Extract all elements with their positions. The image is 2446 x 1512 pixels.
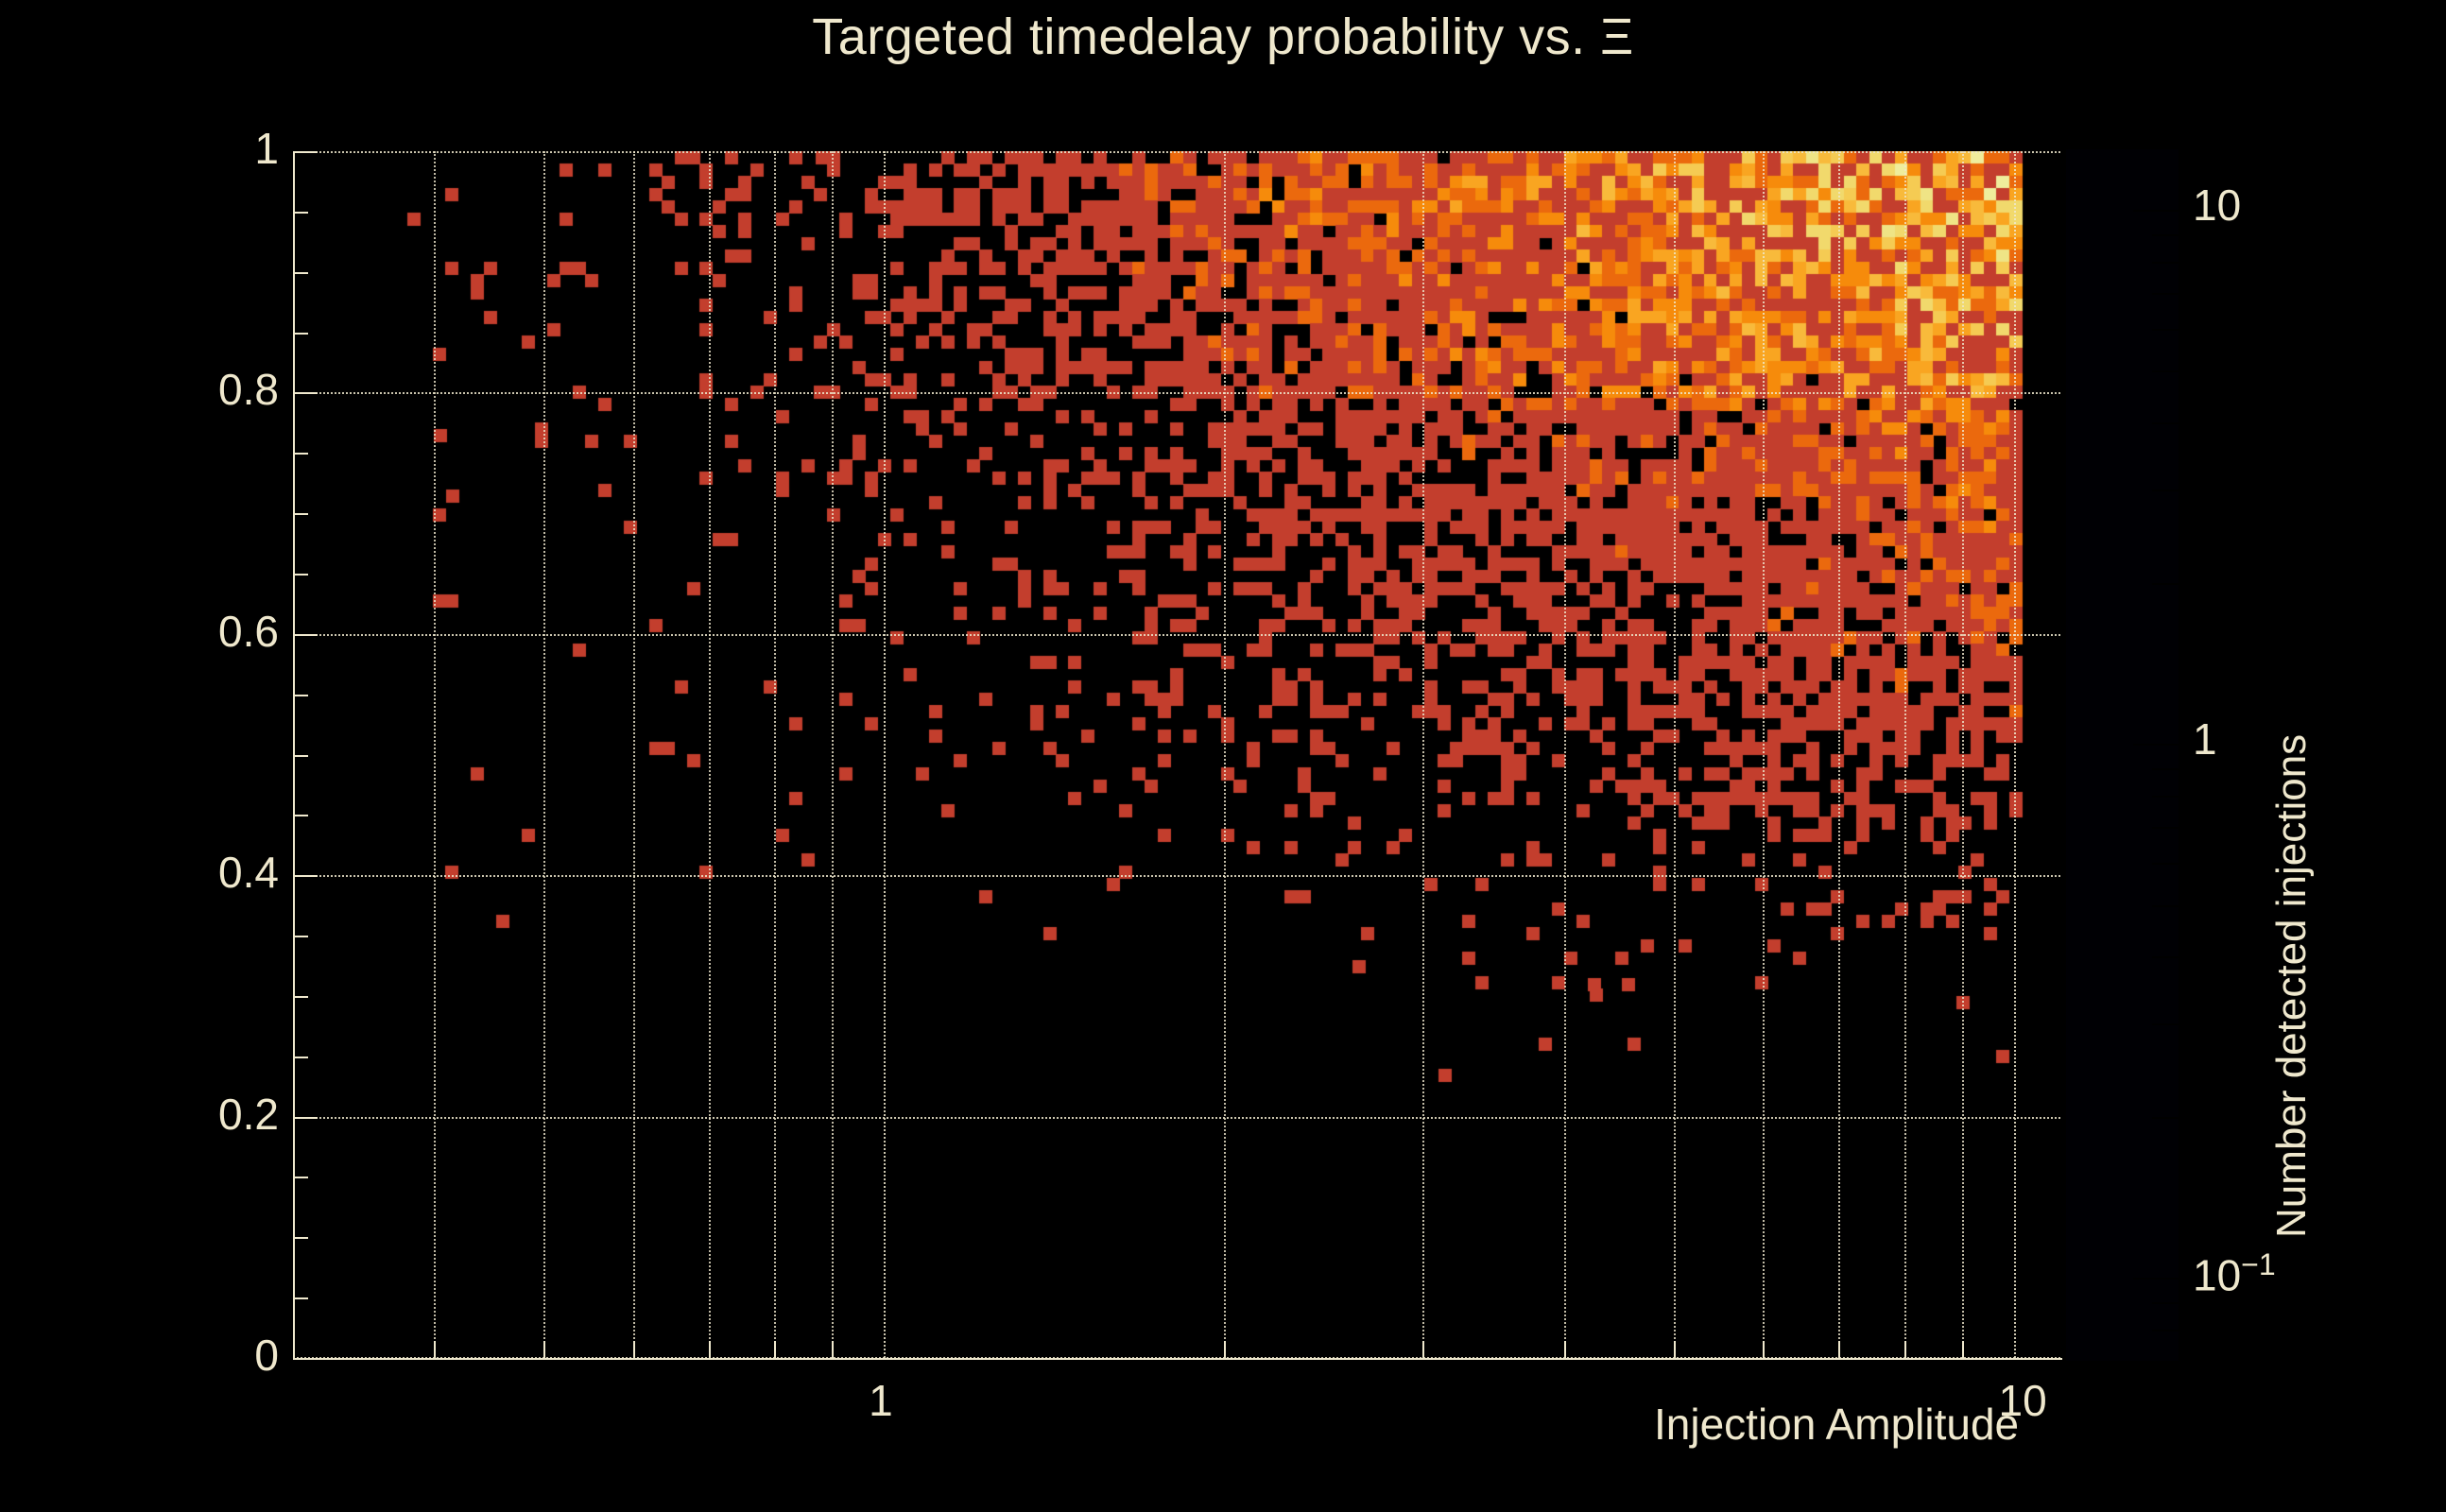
colorbar-gradient	[2066, 149, 2179, 1361]
colorbar-tick-label: 10	[2193, 180, 2241, 231]
x-minor-gridline	[1674, 151, 1676, 1358]
y-minor-tick	[293, 815, 308, 816]
y-major-tick	[293, 1117, 318, 1119]
y-minor-tick	[293, 1237, 308, 1239]
colorbar-tick	[2152, 863, 2179, 865]
colorbar-tick	[2133, 1278, 2179, 1280]
x-minor-gridline	[774, 151, 776, 1358]
x-minor-tick	[1763, 1341, 1765, 1358]
y-minor-tick	[293, 1297, 308, 1299]
x-minor-tick	[1962, 1341, 1964, 1358]
x-minor-tick	[832, 1341, 834, 1358]
x-minor-tick	[1674, 1341, 1676, 1358]
y-gridline	[293, 875, 2060, 877]
x-minor-tick	[709, 1341, 711, 1358]
y-minor-tick	[293, 875, 308, 877]
colorbar-tick	[2152, 262, 2179, 264]
colorbar-tick	[2133, 744, 2179, 746]
colorbar-tick-label: 10−1	[2193, 1247, 2276, 1300]
y-gridline	[293, 634, 2060, 636]
y-minor-tick	[293, 513, 308, 515]
y-minor-tick	[293, 574, 308, 576]
y-gridline	[293, 392, 2060, 394]
colorbar-tick	[2152, 234, 2179, 236]
x-minor-gridline	[1904, 151, 1906, 1358]
colorbar-tick-label: 1	[2193, 713, 2217, 765]
y-tick-label: 0.4	[146, 847, 279, 898]
colorbar-tick	[2152, 583, 2179, 585]
x-minor-gridline	[434, 151, 436, 1358]
chart-root: Targeted timedelay probability vs. Ξ 00.…	[0, 0, 2446, 1512]
y-minor-tick	[293, 936, 308, 937]
x-minor-tick	[1838, 1341, 1840, 1358]
y-major-tick	[293, 392, 318, 394]
x-minor-tick	[633, 1341, 635, 1358]
colorbar-tick	[2152, 1302, 2179, 1304]
x-minor-tick	[1564, 1341, 1566, 1358]
colorbar-tick	[2152, 370, 2179, 372]
colorbar-tick	[2152, 1117, 2179, 1119]
plot-area	[293, 151, 2060, 1358]
chart-title: Targeted timedelay probability vs. Ξ	[0, 8, 2446, 66]
y-gridline	[293, 1117, 2060, 1119]
x-minor-gridline	[1838, 151, 1840, 1358]
colorbar-tick	[2152, 293, 2179, 295]
x-gridline	[2014, 151, 2016, 1358]
y-tick-label: 0.6	[146, 606, 279, 657]
y-minor-tick	[293, 212, 308, 214]
y-minor-tick	[293, 333, 308, 335]
colorbar-title: Number detected injections	[2268, 57, 2316, 1238]
y-minor-tick	[293, 1177, 308, 1178]
colorbar-tick	[2152, 1361, 2179, 1363]
y-gridline	[293, 151, 2060, 153]
x-minor-gridline	[1962, 151, 1964, 1358]
y-axis-line	[293, 151, 295, 1360]
colorbar-tick	[2152, 768, 2179, 770]
colorbar	[2066, 149, 2179, 1361]
y-tick-label: 0.8	[146, 364, 279, 415]
x-minor-gridline	[1564, 151, 1566, 1358]
y-tick-label: 0.2	[146, 1089, 279, 1140]
colorbar-tick	[2152, 422, 2179, 424]
x-minor-gridline	[1422, 151, 1424, 1358]
y-tick-label: 0	[146, 1330, 279, 1381]
y-minor-tick	[293, 272, 308, 274]
x-minor-tick	[1224, 1341, 1226, 1358]
x-minor-gridline	[633, 151, 635, 1358]
y-minor-tick	[293, 695, 308, 696]
colorbar-tick	[2152, 956, 2179, 958]
y-minor-tick	[293, 1057, 308, 1058]
y-tick-label: 1	[146, 123, 279, 174]
heatmap-canvas	[293, 151, 2060, 1358]
x-gridline	[884, 151, 886, 1358]
y-major-tick	[293, 151, 318, 153]
colorbar-tick	[2152, 490, 2179, 491]
colorbar-tick	[2152, 905, 2179, 907]
x-minor-tick	[774, 1341, 776, 1358]
colorbar-tick	[2152, 827, 2179, 829]
x-minor-gridline	[709, 151, 711, 1358]
x-minor-gridline	[1224, 151, 1226, 1358]
y-minor-tick	[293, 755, 308, 757]
y-major-tick	[293, 634, 318, 636]
x-tick-label: 1	[869, 1375, 893, 1426]
x-minor-tick	[434, 1341, 436, 1358]
x-minor-tick	[543, 1341, 545, 1358]
x-axis-line	[293, 1358, 2062, 1360]
colorbar-tick	[2133, 210, 2179, 212]
colorbar-tick	[2152, 1330, 2179, 1332]
x-minor-tick	[1904, 1341, 1906, 1358]
x-minor-gridline	[1763, 151, 1765, 1358]
colorbar-tick	[2152, 1023, 2179, 1025]
y-minor-tick	[293, 453, 308, 455]
x-minor-gridline	[543, 151, 545, 1358]
x-minor-gridline	[832, 151, 834, 1358]
x-axis-title: Injection Amplitude	[1654, 1399, 2019, 1450]
x-minor-tick	[1422, 1341, 1424, 1358]
colorbar-tick	[2152, 796, 2179, 798]
colorbar-tick	[2152, 329, 2179, 331]
y-minor-tick	[293, 996, 308, 998]
